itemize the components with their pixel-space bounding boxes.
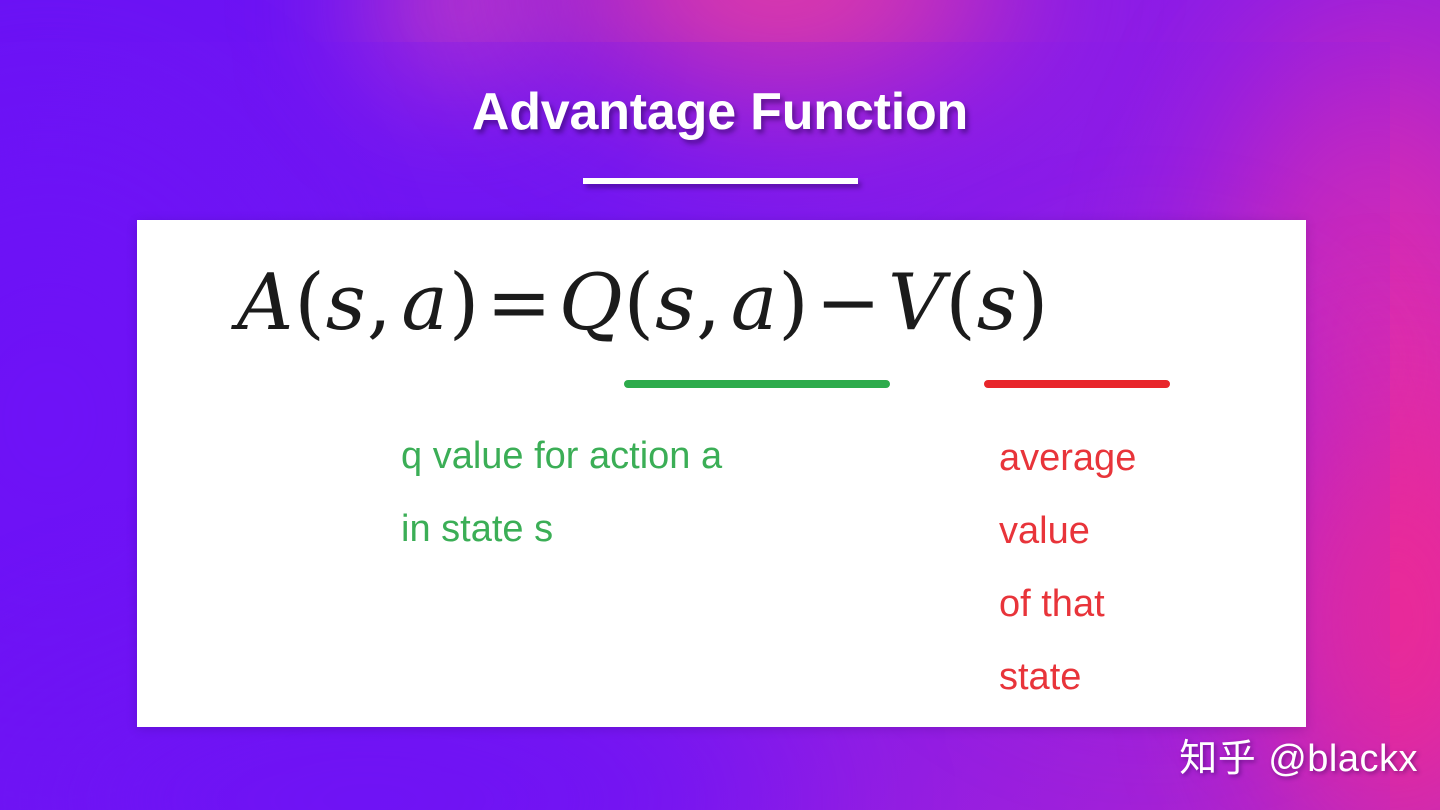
page-title: Advantage Function	[0, 82, 1440, 142]
formula-lhs-open-paren: (	[294, 258, 325, 348]
q-annotation-line-1: q value for action a	[401, 420, 921, 493]
formula-minus-sign: −	[810, 258, 888, 348]
formula-equals-sign: =	[480, 258, 558, 348]
watermark-handle: @blackx	[1268, 738, 1418, 780]
content-card: A(s, a)=Q(s, a)−V(s) q value for action …	[137, 220, 1306, 727]
formula-q-fn: Q	[559, 258, 624, 348]
v-annotation-line-1: average	[999, 422, 1299, 495]
slide-root: Advantage Function A(s, a)=Q(s, a)−V(s) …	[0, 0, 1440, 810]
formula-v-open-paren: (	[945, 258, 976, 348]
formula-q-close-paren: )	[778, 258, 809, 348]
q-term-annotation: q value for action a in state s	[401, 420, 921, 566]
formula-lhs-arg2: a	[401, 258, 449, 348]
v-annotation-line-2: value	[999, 495, 1299, 568]
title-underline-rule	[583, 178, 858, 184]
formula-lhs-fn: A	[237, 258, 294, 348]
advantage-formula: A(s, a)=Q(s, a)−V(s)	[237, 258, 1049, 348]
formula-lhs-close-paren: )	[449, 258, 480, 348]
v-annotation-line-4: state	[999, 641, 1299, 714]
watermark: 知乎@blackx	[1179, 727, 1418, 782]
v-annotation-line-3: of that	[999, 568, 1299, 641]
v-term-underline	[984, 380, 1170, 388]
q-term-underline	[624, 380, 890, 388]
watermark-platform: 知乎	[1179, 738, 1256, 780]
formula-q-open-paren: (	[624, 258, 655, 348]
v-term-annotation: average value of that state	[999, 422, 1299, 714]
formula-v-close-paren: )	[1018, 258, 1049, 348]
formula-lhs-arg1: s	[326, 258, 367, 348]
formula-q-comma: ,	[696, 258, 722, 348]
formula-v-fn: V	[888, 258, 945, 348]
formula-q-arg2: a	[731, 258, 779, 348]
formula-q-arg1: s	[655, 258, 696, 348]
formula-v-arg1: s	[977, 258, 1018, 348]
q-annotation-line-2: in state s	[401, 493, 921, 566]
formula-lhs-comma: ,	[367, 258, 393, 348]
